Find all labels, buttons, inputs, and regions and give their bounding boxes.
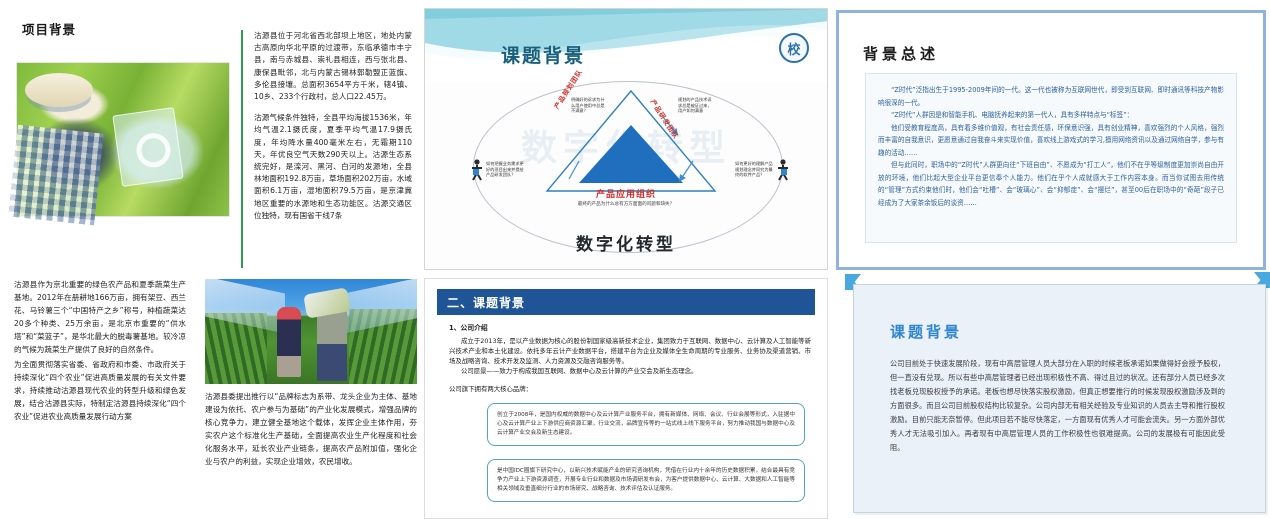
section-body: 1、公司介绍 成立于2013年，是以产业数据为核心的股份制国家级高新技术企业，集… [449,323,811,394]
paragraph: 公司愿景——致力于构成我国互联网、数据中心及云计算的产业交会及新生态理念。 [449,366,811,376]
paragraph: “Z时代”人群因是和智能手机、电脑抚养起来的第一代人，具有多样特点与“标签”： [878,109,1224,122]
person-icon-right [777,159,789,181]
hat-shape [25,73,93,107]
subsection-heading: 1、公司介绍 [449,323,811,333]
paragraph: “Z时代”泛指出生于1995-2009年间的一代。这一代也被称为互联网世代，即受… [878,84,1224,109]
tablet-shape [112,107,183,187]
brand-card-2-text: 是中国IDC圈旗下研究中心，以新兴技术赋能产业的研究咨询机构，凭借在行业内十余年… [497,468,795,492]
brand-card-1-text: 创立于2008年，是国内权威的数据中心及云计算产业服务平台，拥有新媒体、网络、会… [497,412,795,436]
paragraph: 但与此同时，职场中的“Z时代”人群更向往“下班自由”、不愿成为“打工人”，他们不… [878,159,1224,209]
screenshot-board: 项目背景 沽源县位于河北省西北部坝上地区，地处内蒙古高原向华北平原的过渡带，东临… [0,0,1270,519]
person-shape [277,307,301,377]
document-panel-agriculture-plan: 沽源县作为京北重要的绿色农产品和夏季蔬菜生产基地。2012年在册耕地166万亩，… [0,268,418,519]
paragraph: 他们受教育程度高，具有着多维价值观，有社会责任感，环保意识强，具有创业精神，喜欢… [878,122,1224,160]
university-logo-icon: 校 [779,33,809,63]
slide-panel-topic-background-equity: 课题背景 公司目前处于快速发展阶段，现有中高层管理人员大部分在入职的时候老板承诺… [845,272,1270,519]
triangle-question-right: 如何更好的理解产品规划理念并同究为最终的软件产品？ [735,161,775,178]
right-text-column: 沽源县委提出推行以“品牌标志为系带、龙头企业为主体、基地建设为依托、农户参与为基… [205,390,417,468]
slide-panel-background-summary: 背景总述 “Z时代”泛指出生于1995-2009年间的一代。这一代也被称为互联网… [836,10,1266,270]
content-card: 课题背景 公司目前处于快速发展阶段，现有中高层管理人员大部分在入职的时候老板承诺… [853,284,1266,513]
document-panel-company-intro: 二、课题背景 1、公司介绍 成立于2013年，是以产业数据为核心的股份制国家级高… [424,278,828,519]
paragraph: 沽源县位于河北省西北部坝上地区，地处内蒙古高原向华北平原的过渡带，东临承德市丰宁… [254,30,412,103]
header-wave-decoration [425,9,827,83]
triangle-question-bottom: 最终的产品为什么总有方方面面的问题和缺失？ [425,201,827,207]
section-header-label: 二、课题背景 [447,294,525,311]
document-panel-project-background: 项目背景 沽源县位于河北省西北部坝上地区，地处内蒙古高原向华北平原的过渡带，东临… [0,0,418,268]
brand-card-2: 是中国IDC圈旗下研究中心，以新兴技术赋能产业的研究咨询机构，凭借在行业内十余年… [487,459,805,502]
paragraph: 沽源气候条件独特，全县平均海拔1536米，年均气温2.1摄氏度，夏季平均气温17… [254,112,412,222]
paragraph: 成立于2013年，是以产业数据为核心的股份制国家级高新技术企业，集团致力于互联网… [449,336,811,366]
triangle-question-top-left: 明确好的诉求为什么用户使用中总是不满意？ [571,97,605,114]
paragraph: 沽源县委提出推行以“品牌标志为系带、龙头企业为主体、基地建设为依托、农户参与为基… [205,390,417,468]
slide-title: 背景总述 [863,43,939,64]
page-title: 项目背景 [22,19,76,38]
green-vertical-divider [241,30,243,268]
paragraph: 沽源县作为京北重要的绿色农产品和夏季蔬菜生产基地。2012年在册耕地166万亩，… [14,278,186,356]
logo-glyph: 校 [787,39,800,58]
paragraph: 为全面贯彻落实省委、省政府和市委、市政府关于持续深化“四个农业”促进高质量发展的… [14,358,186,423]
slide-title: 课题背景 [890,321,962,342]
greenhouse-harvest-photo [205,279,417,384]
paragraph: 公司旗下拥有两大核心品牌： [449,384,811,394]
person-icon-left [471,159,483,181]
triangle-question-left: 如何把握业务需求更好的项目出来并提给产品研发团队？ [486,161,526,178]
body-text: 公司目前处于快速发展阶段，现有中高层管理人员大部分在入职的时候老板承诺如果做得好… [890,357,1225,455]
left-text-column: 沽源县作为京北重要的绿色农产品和夏季蔬菜生产基地。2012年在册耕地166万亩，… [14,278,186,423]
farmer-in-field-photo [16,62,230,217]
slide-title: 课题背景 [501,41,585,68]
slide-panel-topic-background: 课题背景 校 数字化转型 产品规划团队 产品研发团队 产品应用组织 [424,8,828,270]
triangle-question-top-right: 规划的产品技术诉求总是被证过来，用户如何满意 [678,97,712,114]
triangle-label-bottom: 产品应用组织 [425,187,827,200]
section-header-bar: 二、课题背景 [437,289,815,315]
digital-transformation-caption: 数字化转型 [425,230,827,255]
brand-card-1: 创立于2008年，是国内权威的数据中心及云计算产业服务平台，拥有新媒体、网络、会… [487,403,805,446]
body-text-column: 沽源县位于河北省西北部坝上地区，地处内蒙古高原向华北平原的过渡带，东临承德市丰宁… [254,30,412,222]
summary-text-box: “Z时代”泛指出生于1995-2009年间的一代。这一代也被称为互联网世代，即受… [865,73,1237,243]
shirt-shape [8,125,103,225]
